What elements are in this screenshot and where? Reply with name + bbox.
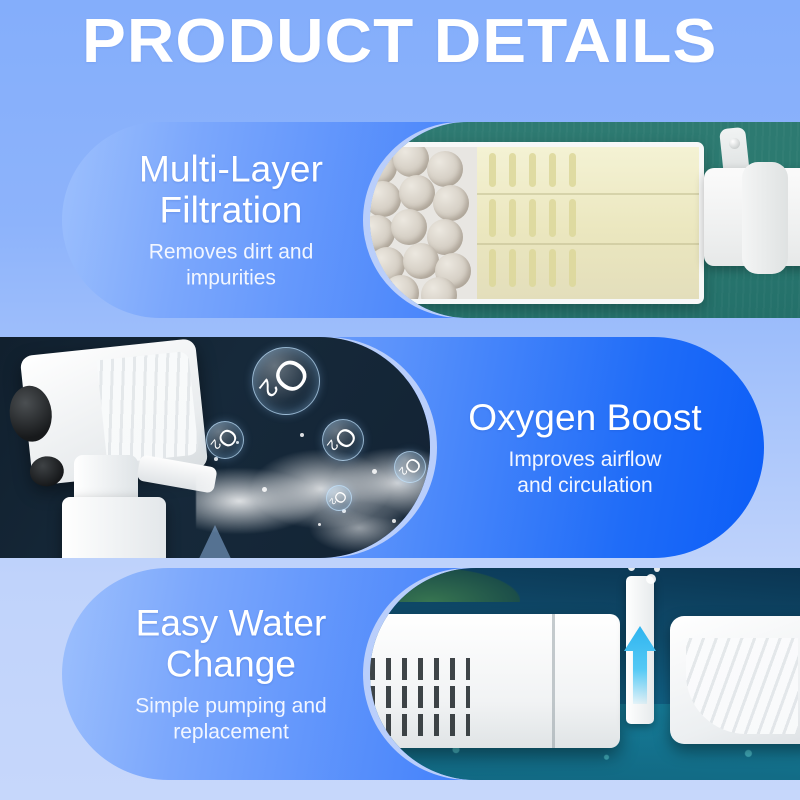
panel-subtitle: Simple pumping and replacement <box>56 694 406 746</box>
panel-title-line-2: Filtration <box>160 190 303 231</box>
panel-title-line-2: Change <box>166 644 296 685</box>
aeration-illustration: O₂ O₂ O₂ O₂ O₂ <box>0 337 430 558</box>
feature-panel-easy-water-change: Easy Water Change Simple pumping and rep… <box>0 568 800 780</box>
decor-triangle <box>196 525 234 558</box>
pump-base <box>62 497 166 558</box>
pump-body <box>370 614 620 748</box>
pump-seam <box>552 614 555 748</box>
product-details-infographic: PRODUCT DETAILS <box>0 0 800 800</box>
water-change-illustration <box>370 568 800 780</box>
panel-subtitle: Improves airflow and circulation <box>390 447 780 499</box>
suction-cup-bracket <box>742 162 788 274</box>
oxygen-bubble-label: O₂ <box>323 420 363 459</box>
panel-subtitle-line-2: replacement <box>173 721 289 744</box>
header: PRODUCT DETAILS <box>0 8 800 76</box>
panel-subtitle-line-2: and circulation <box>517 474 652 497</box>
panel-text-block: Easy Water Change Simple pumping and rep… <box>56 603 406 746</box>
pump-intake-cap <box>7 384 55 444</box>
panel-title-line-1: Easy Water <box>136 603 327 644</box>
panel-image-easy-water-change <box>370 568 800 780</box>
panel-text-block: Multi-Layer Filtration Removes dirt and … <box>56 149 406 292</box>
panel-text-block: Oxygen Boost Improves airflow and circul… <box>390 397 780 499</box>
panel-title: Easy Water Change <box>56 603 406 685</box>
panel-title-line-1: Multi-Layer <box>139 149 323 190</box>
pump-lower-cap <box>28 455 65 488</box>
panel-title: Oxygen Boost <box>390 397 780 438</box>
pump-fins <box>97 351 199 464</box>
panel-subtitle-line-1: Simple pumping and <box>135 695 326 718</box>
oxygen-bubble-icon: O₂ <box>322 419 364 461</box>
oxygen-bubble-label: O₂ <box>207 422 244 458</box>
sponge-media <box>477 147 699 299</box>
oxygen-bubble-icon: O₂ <box>326 485 352 511</box>
filter-cartridge <box>370 142 704 304</box>
panel-subtitle-line-1: Improves airflow <box>509 448 662 471</box>
feature-panel-oxygen-boost: O₂ O₂ O₂ O₂ O₂ Oxygen Boost Improves air… <box>0 337 800 558</box>
panel-title-line-1: Oxygen Boost <box>468 397 702 438</box>
pump-head-fins <box>686 638 798 734</box>
panel-image-multi-layer-filtration <box>370 122 800 318</box>
oxygen-bubble-label: O₂ <box>253 348 320 415</box>
panel-image-oxygen-boost: O₂ O₂ O₂ O₂ O₂ <box>0 337 430 558</box>
oxygen-bubble-icon: O₂ <box>206 421 244 459</box>
mount-screw <box>729 138 740 149</box>
panel-subtitle: Removes dirt and impurities <box>56 240 406 292</box>
oxygen-bubble-label: O₂ <box>328 487 351 510</box>
panel-subtitle-line-2: impurities <box>186 267 276 290</box>
feature-panel-multi-layer-filtration: Multi-Layer Filtration Removes dirt and … <box>0 122 800 318</box>
page-title: PRODUCT DETAILS <box>82 8 717 76</box>
oxygen-bubble-icon: O₂ <box>252 347 320 415</box>
pump-head <box>670 616 800 744</box>
aquarium-plants <box>370 568 520 602</box>
panel-subtitle-line-1: Removes dirt and <box>149 241 314 264</box>
filter-cartridge-illustration <box>370 122 800 318</box>
panel-title: Multi-Layer Filtration <box>56 149 406 231</box>
